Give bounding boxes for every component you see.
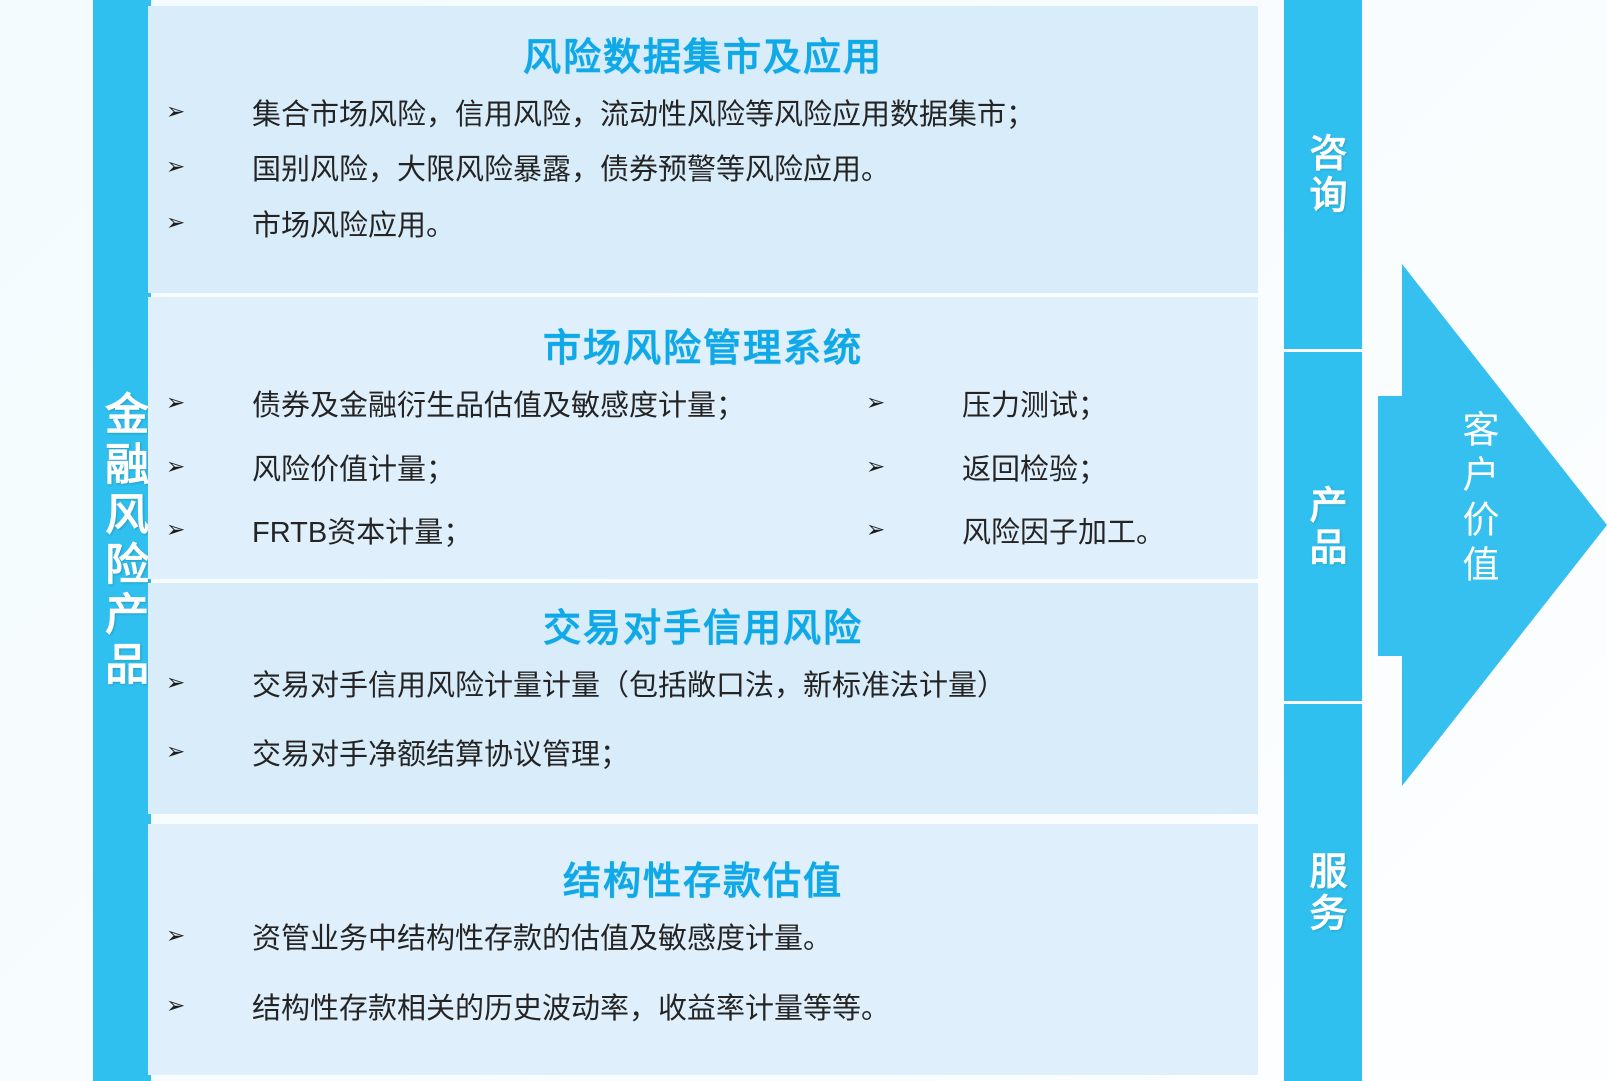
list-item: ➢ 交易对手信用风险计量计量（包括敞口法，新标准法计量） bbox=[158, 670, 1258, 703]
section-title: 市场风险管理系统 bbox=[148, 297, 1258, 372]
list-item: ➢ 国别风险，大限风险暴露，债券预警等风险应用。 bbox=[158, 154, 1258, 187]
bullet-list: ➢ 集合市场风险，信用风险，流动性风险等风险应用数据集市； ➢ 国别风险，大限风… bbox=[148, 99, 1258, 243]
list-item: ➢ 市场风险应用。 bbox=[158, 210, 1258, 243]
list-item: ➢ 债券及金融衍生品估值及敏感度计量； bbox=[158, 390, 858, 423]
list-item: ➢ 交易对手净额结算协议管理； bbox=[158, 739, 1258, 772]
arrow-bullet-icon: ➢ bbox=[166, 154, 196, 180]
stage-column: 咨询 产品 服务 bbox=[1284, 0, 1362, 1081]
list-item-label: 债券及金融衍生品估值及敏感度计量； bbox=[252, 390, 745, 423]
stage-item-label: 服务 bbox=[1303, 851, 1343, 935]
list-item: ➢ 返回检验； bbox=[858, 454, 1258, 487]
section-title: 风险数据集市及应用 bbox=[148, 6, 1258, 81]
list-item-label: 风险因子加工。 bbox=[962, 517, 1165, 550]
bullet-column-left: ➢ 债券及金融衍生品估值及敏感度计量； ➢ 风险价值计量； ➢ FRTB资本计量… bbox=[158, 390, 858, 578]
sections-container: 风险数据集市及应用 ➢ 集合市场风险，信用风险，流动性风险等风险应用数据集市； … bbox=[148, 6, 1258, 1075]
list-item-label: 返回检验； bbox=[962, 454, 1107, 487]
stage-item-label: 咨询 bbox=[1303, 133, 1343, 217]
arrow-bullet-icon: ➢ bbox=[866, 390, 896, 416]
list-item: ➢ 风险因子加工。 bbox=[858, 517, 1258, 550]
arrow-bullet-icon: ➢ bbox=[866, 517, 896, 543]
customer-value-arrow-label: 客户价值 bbox=[1436, 410, 1496, 590]
bullet-list: ➢ 交易对手信用风险计量计量（包括敞口法，新标准法计量） ➢ 交易对手净额结算协… bbox=[148, 670, 1258, 773]
arrow-bullet-icon: ➢ bbox=[166, 923, 196, 949]
arrow-bullet-icon: ➢ bbox=[166, 390, 196, 416]
left-brand-bar: 金融风险产品 bbox=[93, 0, 151, 1081]
stage-item-product: 产品 bbox=[1284, 352, 1362, 701]
bullet-list: ➢ 资管业务中结构性存款的估值及敏感度计量。 ➢ 结构性存款相关的历史波动率，收… bbox=[148, 923, 1258, 1026]
stage-item-service: 服务 bbox=[1284, 704, 1362, 1081]
list-item-label: 市场风险应用。 bbox=[252, 210, 455, 243]
list-item: ➢ 结构性存款相关的历史波动率，收益率计量等等。 bbox=[158, 993, 1258, 1026]
list-item-label: 集合市场风险，信用风险，流动性风险等风险应用数据集市； bbox=[252, 99, 1035, 132]
list-item: ➢ 资管业务中结构性存款的估值及敏感度计量。 bbox=[158, 923, 1258, 956]
section-risk-data-mart: 风险数据集市及应用 ➢ 集合市场风险，信用风险，流动性风险等风险应用数据集市； … bbox=[148, 6, 1258, 293]
customer-value-arrow: 客户价值 bbox=[1378, 264, 1607, 786]
list-item-label: 压力测试； bbox=[962, 390, 1107, 423]
arrow-bullet-icon: ➢ bbox=[166, 993, 196, 1019]
section-counterparty-credit-risk: 交易对手信用风险 ➢ 交易对手信用风险计量计量（包括敞口法，新标准法计量） ➢ … bbox=[148, 583, 1258, 815]
stage-item-consulting: 咨询 bbox=[1284, 0, 1362, 349]
list-item-label: 资管业务中结构性存款的估值及敏感度计量。 bbox=[252, 923, 832, 956]
arrow-bullet-icon: ➢ bbox=[866, 454, 896, 480]
arrow-bullet-icon: ➢ bbox=[166, 739, 196, 765]
list-item-label: 风险价值计量； bbox=[252, 454, 455, 487]
list-item: ➢ 集合市场风险，信用风险，流动性风险等风险应用数据集市； bbox=[158, 99, 1258, 132]
list-item-label: 交易对手净额结算协议管理； bbox=[252, 739, 629, 772]
list-item-label: 结构性存款相关的历史波动率，收益率计量等等。 bbox=[252, 993, 890, 1026]
arrow-bullet-icon: ➢ bbox=[166, 210, 196, 236]
list-item-label: 交易对手信用风险计量计量（包括敞口法，新标准法计量） bbox=[252, 670, 1006, 703]
list-item-label: FRTB资本计量； bbox=[252, 517, 472, 550]
list-item-label: 国别风险，大限风险暴露，债券预警等风险应用。 bbox=[252, 154, 890, 187]
list-item: ➢ 压力测试； bbox=[858, 390, 1258, 423]
stage-item-label: 产品 bbox=[1303, 485, 1343, 569]
arrow-bullet-icon: ➢ bbox=[166, 517, 196, 543]
section-title: 结构性存款估值 bbox=[148, 824, 1258, 905]
left-brand-bar-label: 金融风险产品 bbox=[99, 391, 145, 691]
section-title: 交易对手信用风险 bbox=[148, 583, 1258, 652]
bullet-list: ➢ 债券及金融衍生品估值及敏感度计量； ➢ 风险价值计量； ➢ FRTB资本计量… bbox=[148, 390, 1258, 578]
bullet-column-right: ➢ 压力测试； ➢ 返回检验； ➢ 风险因子加工。 bbox=[858, 390, 1258, 578]
section-structured-deposit-valuation: 结构性存款估值 ➢ 资管业务中结构性存款的估值及敏感度计量。 ➢ 结构性存款相关… bbox=[148, 824, 1258, 1075]
list-item: ➢ 风险价值计量； bbox=[158, 454, 858, 487]
list-item: ➢ FRTB资本计量； bbox=[158, 517, 858, 550]
arrow-bullet-icon: ➢ bbox=[166, 99, 196, 125]
section-market-risk-system: 市场风险管理系统 ➢ 债券及金融衍生品估值及敏感度计量； ➢ 风险价值计量； ➢… bbox=[148, 297, 1258, 578]
arrow-bullet-icon: ➢ bbox=[166, 670, 196, 696]
arrow-bullet-icon: ➢ bbox=[166, 454, 196, 480]
